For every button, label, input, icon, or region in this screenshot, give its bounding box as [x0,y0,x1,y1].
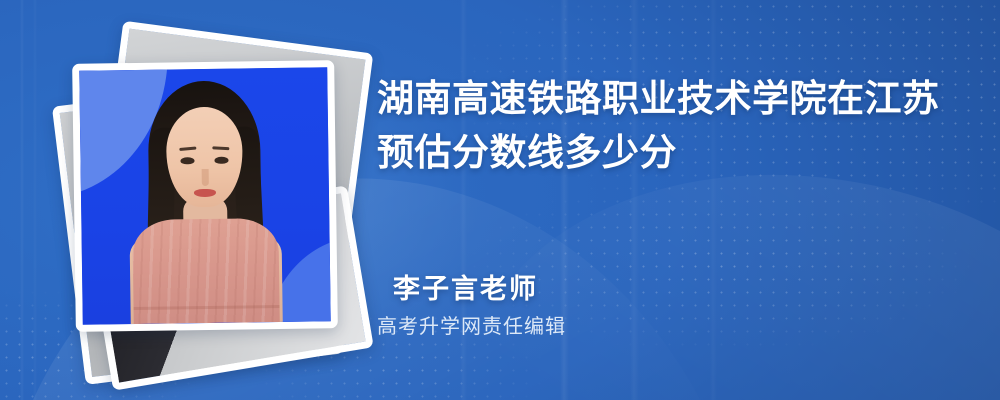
portrait-eye-left [180,157,194,164]
author-role: 高考升学网责任编辑 [377,314,953,340]
portrait-nose [201,169,208,186]
page-title: 湖南高速铁路职业技术学院在江苏预估分数线多少分 [377,72,953,180]
portrait-face [166,106,243,207]
portrait-eyebrow-left [179,147,196,151]
portrait-eyebrow-right [212,146,229,150]
portrait-eye-right [214,157,228,164]
portrait-lips [194,189,216,197]
author-name: 李子言老师 [393,272,953,306]
photo-card-main [72,60,338,332]
banner-content: 湖南高速铁路职业技术学院在江苏预估分数线多少分 李子言老师 高考升学网责任编辑 [377,0,977,400]
portrait-dress [132,218,279,324]
portrait-photo [79,67,331,324]
photo-card-stack [60,38,360,358]
article-header-banner: 湖南高速铁路职业技术学院在江苏预估分数线多少分 李子言老师 高考升学网责任编辑 [0,0,1000,400]
author-byline: 李子言老师 高考升学网责任编辑 [393,272,953,340]
